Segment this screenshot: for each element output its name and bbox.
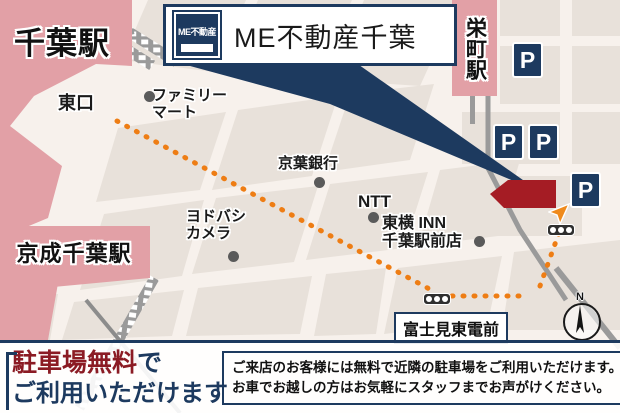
compass-icon	[563, 303, 601, 341]
station-plate-keisei-chiba: 京成千葉駅	[0, 233, 148, 270]
station-plate-chiba: 千葉駅	[0, 16, 124, 64]
poi-dot-familymart	[144, 91, 155, 102]
brand-logomark-icon: ME不動産	[174, 12, 220, 58]
label-ntt: NTT	[358, 192, 391, 211]
station-plate-sakaecho: 栄町駅	[452, 0, 497, 96]
parking-banner-note: ご来店のお客様には無料で近隣の駐車場をご利用いただけます。 お車でお越しの方はお…	[222, 351, 620, 404]
traffic-signal-icon-2	[423, 293, 451, 305]
parking-banner-note-line-2: お車でお越しの方はお気軽にスタッフまでお声がけください。	[232, 378, 620, 398]
label-toyoko-inn: 東横 INN 千葉駅前店	[382, 215, 462, 251]
label-east-exit: 東口	[58, 93, 94, 113]
station-plate-sakaecho-label: 栄町駅	[463, 17, 485, 80]
destination-cursor-icon	[548, 203, 570, 225]
poi-dot-yodobashi-camera	[228, 251, 239, 262]
brand-title: ME不動産千葉	[234, 16, 417, 55]
parking-banner-free-accent: 駐車場無料	[12, 349, 137, 377]
parking-banner-headline: 駐車場無料で ご利用いただけます	[0, 348, 222, 408]
parking-banner-note-line-1: ご来店のお客様には無料で近隣の駐車場をご利用いただけます。	[232, 358, 620, 378]
label-yodobashi-camera: ヨドバシ カメラ	[186, 209, 246, 243]
parking-banner: 駐車場無料で ご利用いただけます ご来店のお客様には無料で近隣の駐車場をご利用い…	[0, 340, 620, 413]
compass-north-label: N	[565, 291, 595, 303]
parking-banner-headline-line-2: ご利用いただけます	[12, 379, 222, 408]
brand-logomark-text: ME不動産	[178, 25, 216, 38]
parking-badge-3: P	[528, 124, 559, 160]
parking-badge-2: P	[493, 124, 524, 160]
station-plate-keisei-chiba-label: 京成千葉駅	[16, 236, 131, 268]
label-keiyo-bank: 京葉銀行	[278, 156, 338, 173]
traffic-signal-icon-1	[547, 224, 575, 236]
map-figure: 千葉駅 京成千葉駅 栄町駅 東口 ファミリー マート 京葉銀行 NTT 東横 I…	[0, 0, 620, 413]
poi-dot-keiyo-bank	[314, 177, 325, 188]
parking-badge-4: P	[570, 172, 601, 208]
parking-badge-1: P	[512, 42, 543, 78]
station-plate-chiba-label: 千葉駅	[14, 18, 110, 63]
poi-dot-ntt	[368, 212, 379, 223]
brand-logomark-bar	[181, 44, 213, 52]
brand-logo-card: ME不動産 ME不動産千葉	[163, 4, 457, 66]
label-familymart: ファミリー マート	[152, 88, 227, 122]
poi-dot-toyoko-inn	[474, 236, 485, 247]
parking-banner-headline-line-1: 駐車場無料で	[12, 348, 222, 379]
parking-banner-headline-tail: で	[137, 349, 162, 377]
